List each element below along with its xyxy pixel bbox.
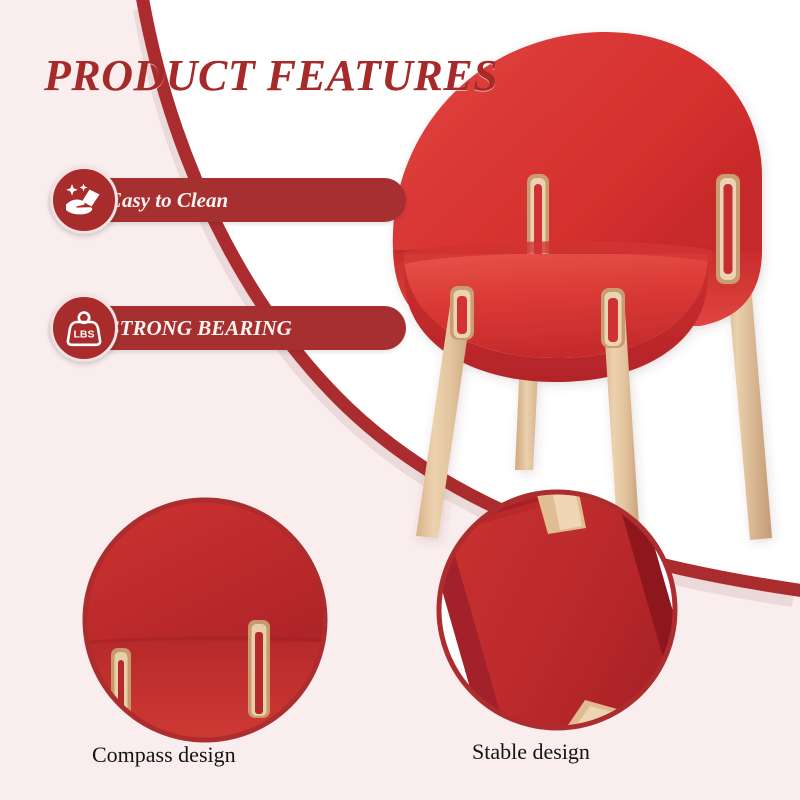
hand-wiping-cloth-sparkle-icon: [50, 166, 118, 234]
infographic-artboard: [0, 0, 800, 800]
chair-backrest-slot-right: [716, 174, 740, 284]
caption-stable-design: Stable design: [472, 739, 590, 765]
page-title: PRODUCT FEATURES: [44, 50, 498, 101]
detail-slot-right: [248, 620, 270, 718]
product-feature-infographic: PRODUCT FEATURES Easy to Clean STRONG BE…: [0, 0, 800, 800]
feature-strong-bearing[interactable]: STRONG BEARING LBS: [50, 306, 406, 350]
feature-label: Easy to Clean: [108, 188, 228, 213]
caption-compass-design: Compass design: [92, 742, 236, 768]
weight-lbs-icon: LBS: [50, 294, 118, 362]
lbs-label: LBS: [74, 329, 95, 341]
feature-easy-to-clean[interactable]: Easy to Clean: [50, 178, 406, 222]
feature-label: STRONG BEARING: [108, 316, 292, 341]
